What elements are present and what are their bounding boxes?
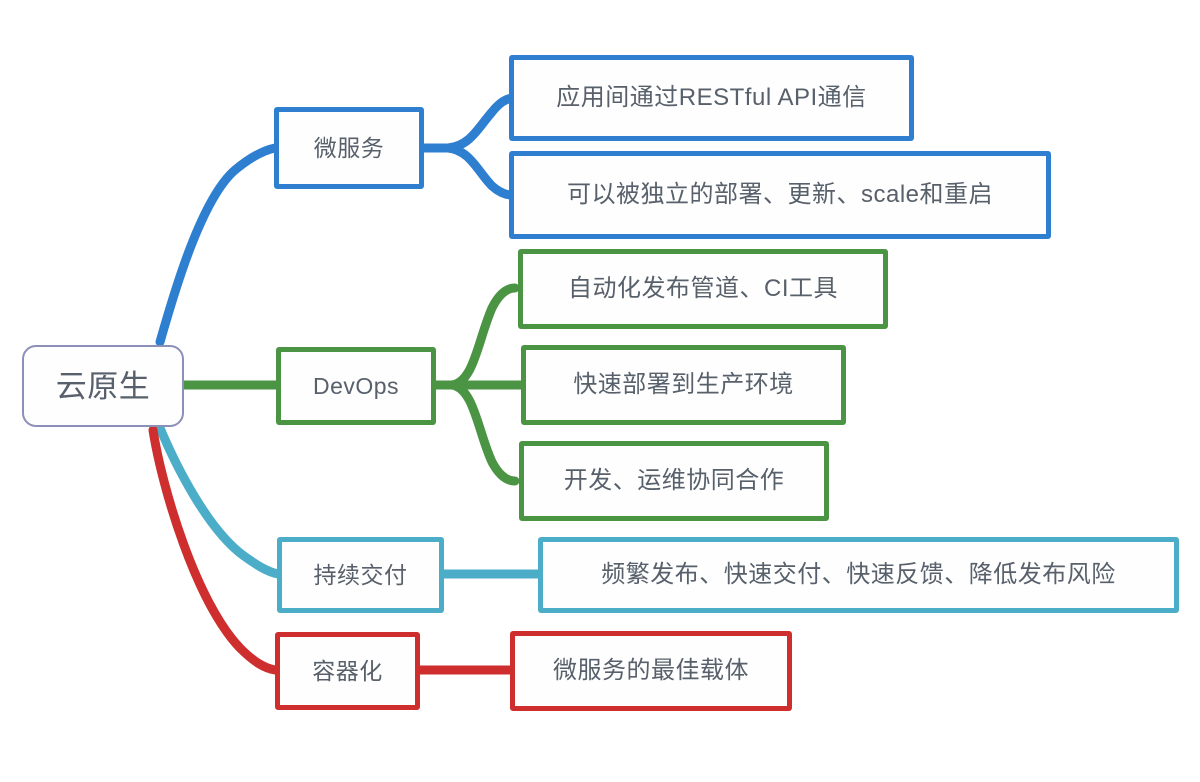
node-microservice-leaf-2[interactable]: 可以被独立的部署、更新、scale和重启 — [509, 151, 1051, 239]
node-root-label: 云原生 — [56, 371, 151, 402]
node-continuous-delivery[interactable]: 持续交付 — [277, 537, 444, 613]
edge-root-to-microservice — [160, 148, 275, 342]
node-devops-leaf-1-label: 自动化发布管道、CI工具 — [568, 277, 838, 301]
node-containerization-label: 容器化 — [312, 660, 383, 683]
node-devops-leaf-3[interactable]: 开发、运维协同合作 — [519, 441, 829, 521]
node-devops-leaf-3-label: 开发、运维协同合作 — [564, 469, 785, 493]
node-root[interactable]: 云原生 — [22, 345, 184, 427]
node-containerization[interactable]: 容器化 — [275, 632, 420, 710]
edge-devops-to-leaf3 — [436, 385, 515, 481]
node-continuous-delivery-leaf-1-label: 频繁发布、快速交付、快速反馈、降低发布风险 — [601, 563, 1116, 587]
node-microservice-label: 微服务 — [314, 137, 385, 160]
edge-root-to-containerization — [153, 430, 275, 670]
edge-devops-to-leaf1 — [436, 288, 515, 385]
node-devops-leaf-2[interactable]: 快速部署到生产环境 — [521, 345, 846, 425]
node-microservice-leaf-2-label: 可以被独立的部署、更新、scale和重启 — [567, 183, 993, 207]
node-devops[interactable]: DevOps — [276, 347, 436, 425]
node-microservice-leaf-1-label: 应用间通过RESTful API通信 — [556, 86, 866, 110]
node-devops-label: DevOps — [313, 375, 399, 398]
node-containerization-leaf-1[interactable]: 微服务的最佳载体 — [510, 631, 792, 711]
node-microservice[interactable]: 微服务 — [274, 107, 424, 189]
node-containerization-leaf-1-label: 微服务的最佳载体 — [553, 659, 749, 683]
edge-root-to-continuous-delivery — [160, 428, 278, 574]
mindmap-canvas: 云原生 微服务 应用间通过RESTful API通信 可以被独立的部署、更新、s… — [0, 0, 1200, 782]
node-devops-leaf-2-label: 快速部署到生产环境 — [573, 373, 794, 397]
edge-microservice-to-leaf1 — [424, 98, 512, 148]
node-microservice-leaf-1[interactable]: 应用间通过RESTful API通信 — [509, 55, 914, 141]
node-continuous-delivery-label: 持续交付 — [314, 564, 408, 587]
node-devops-leaf-1[interactable]: 自动化发布管道、CI工具 — [518, 249, 888, 329]
node-continuous-delivery-leaf-1[interactable]: 频繁发布、快速交付、快速反馈、降低发布风险 — [538, 537, 1179, 613]
edge-microservice-to-leaf2 — [424, 148, 512, 195]
